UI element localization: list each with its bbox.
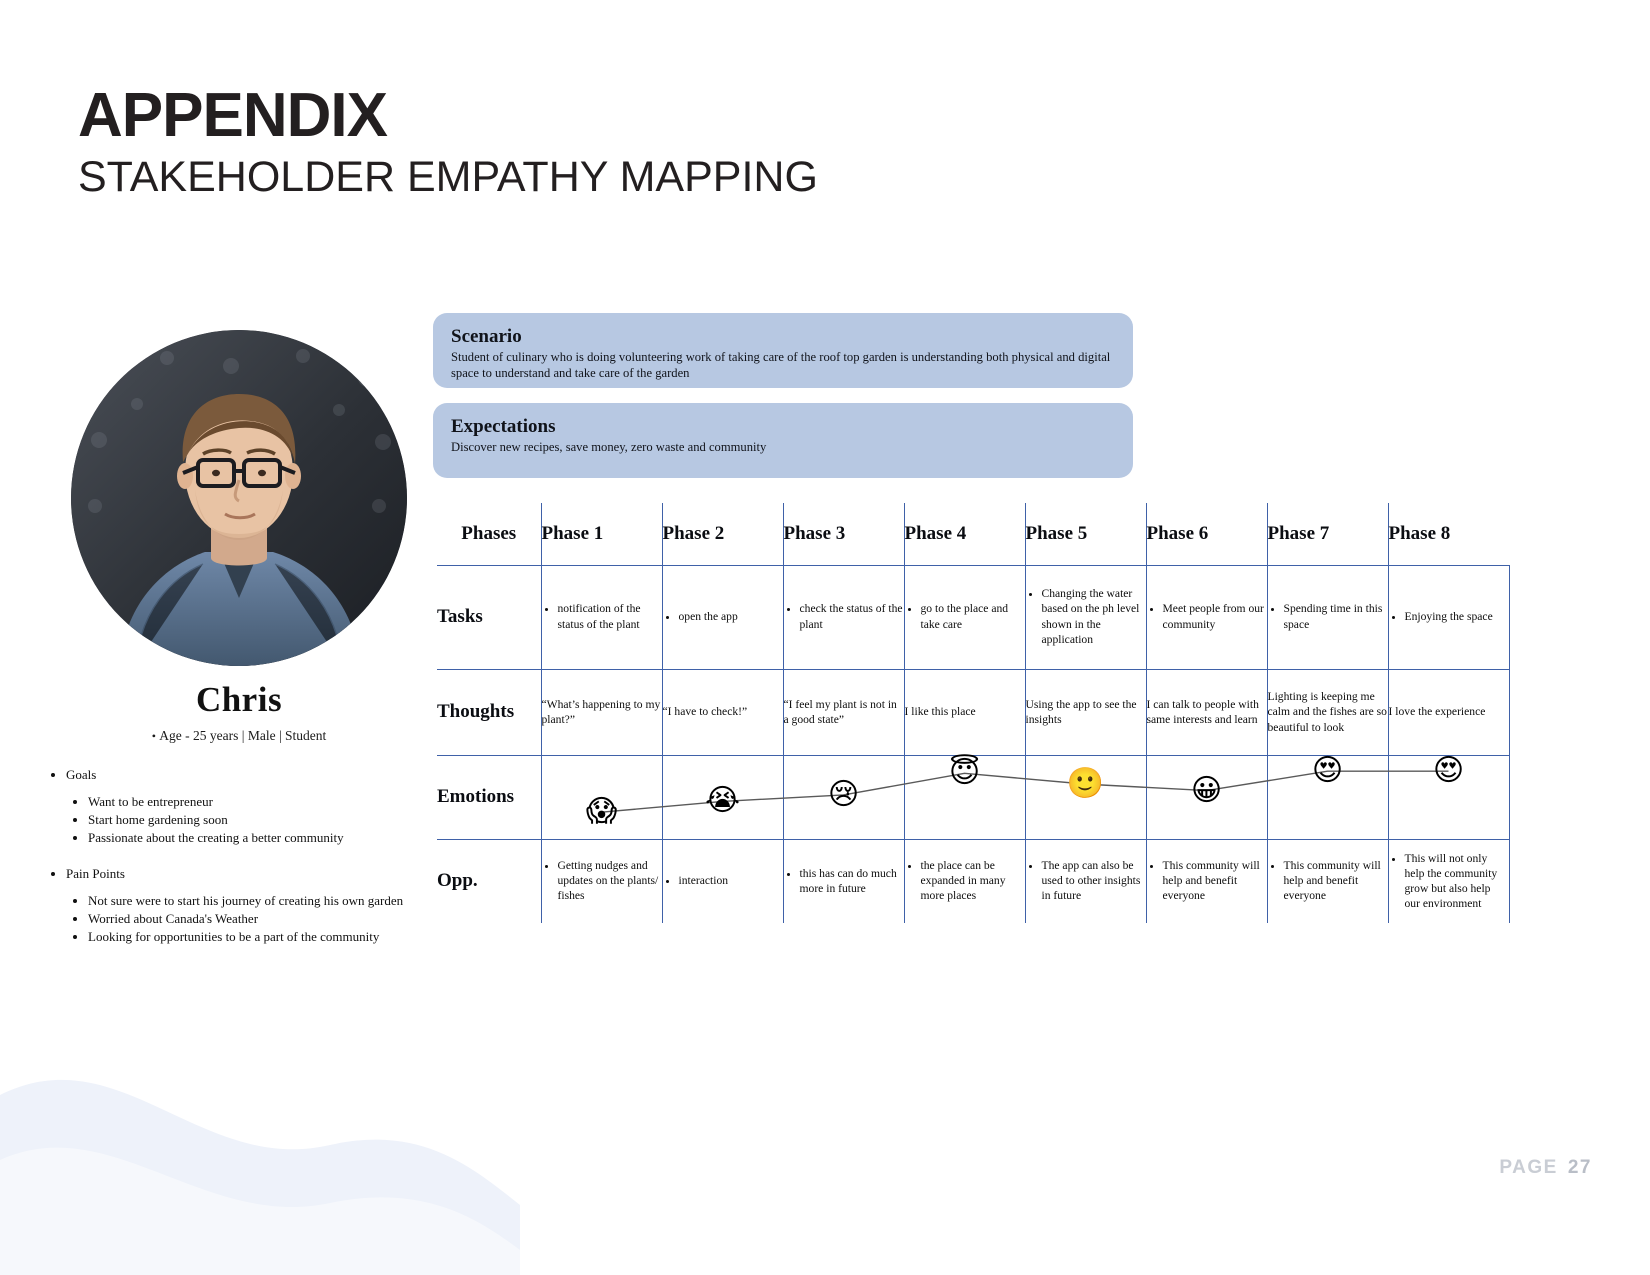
list-item: Enjoying the space — [1405, 609, 1509, 624]
cell-list: go to the place and take care — [921, 601, 1025, 631]
page-header: APPENDIX STAKEHOLDER EMPATHY MAPPING — [78, 85, 818, 202]
column-header-phase-2: Phase 2 — [662, 503, 783, 565]
persona-meta: • Age - 25 years | Male | Student — [44, 728, 434, 744]
persona-meta-text: Age - 25 years | Male | Student — [159, 728, 326, 744]
cell-thoughts-phase-4: I like this place — [904, 669, 1025, 755]
cell-list: interaction — [679, 873, 783, 888]
cell-emotions-phase-3 — [783, 755, 904, 839]
column-header-phase-5: Phase 5 — [1025, 503, 1146, 565]
cell-thoughts-phase-8: I love the experience — [1388, 669, 1509, 755]
cell-tasks-phase-5: Changing the water based on the ph level… — [1025, 565, 1146, 669]
table-row: Opp.Getting nudges and updates on the pl… — [437, 839, 1509, 923]
list-item: interaction — [679, 873, 783, 888]
cell-opp-phase-2: interaction — [662, 839, 783, 923]
cell-list: Enjoying the space — [1405, 609, 1509, 624]
list-item: go to the place and take care — [921, 601, 1025, 631]
expectations-body: Discover new recipes, save money, zero w… — [451, 439, 1115, 455]
empathy-table: Phases Phase 1 Phase 2 Phase 3 Phase 4 P… — [437, 503, 1510, 923]
column-header-phase-3: Phase 3 — [783, 503, 904, 565]
pain-points-group: Pain Points Not sure were to start his j… — [66, 865, 434, 946]
empathy-matrix: Phases Phase 1 Phase 2 Phase 3 Phase 4 P… — [437, 503, 1509, 923]
list-item: Passionate about the creating a better c… — [88, 829, 434, 846]
cell-text: “What’s happening to my plant?” — [542, 697, 662, 727]
cell-emotions-phase-4 — [904, 755, 1025, 839]
cell-text: I love the experience — [1389, 704, 1509, 719]
list-item: Start home gardening soon — [88, 811, 434, 828]
goals-list: Want to be entrepreneur Start home garde… — [88, 793, 434, 846]
avatar — [71, 330, 407, 666]
decorative-wave — [0, 975, 520, 1275]
column-header-phase-8: Phase 8 — [1388, 503, 1509, 565]
cell-text: “I feel my plant is not in a good state” — [784, 697, 904, 727]
cell-list: Meet people from our community — [1163, 601, 1267, 631]
list-item: the place can be expanded in many more p… — [921, 858, 1025, 903]
cell-emotions-phase-2 — [662, 755, 783, 839]
cell-thoughts-phase-7: Lighting is keeping me calm and the fish… — [1267, 669, 1388, 755]
cell-list: This will not only help the community gr… — [1405, 851, 1509, 911]
cell-text: Using the app to see the insights — [1026, 697, 1146, 727]
pain-points-list: Not sure were to start his journey of cr… — [88, 892, 434, 945]
cell-thoughts-phase-1: “What’s happening to my plant?” — [541, 669, 662, 755]
cell-emotions-phase-1 — [541, 755, 662, 839]
cell-tasks-phase-7: Spending time in this space — [1267, 565, 1388, 669]
cell-text: I like this place — [905, 704, 1025, 719]
cell-list: This community will help and benefit eve… — [1284, 858, 1388, 903]
column-header-phase-7: Phase 7 — [1267, 503, 1388, 565]
table-row: Thoughts“What’s happening to my plant?”“… — [437, 669, 1509, 755]
cell-opp-phase-5: The app can also be used to other insigh… — [1025, 839, 1146, 923]
bullet-glyph: • — [152, 729, 156, 743]
page-title: APPENDIX — [78, 85, 818, 147]
table-row: Tasksnotification of the status of the p… — [437, 565, 1509, 669]
row-label-tasks: Tasks — [437, 565, 541, 669]
cell-tasks-phase-3: check the status of the plant — [783, 565, 904, 669]
column-header-phase-1: Phase 1 — [541, 503, 662, 565]
cell-list: Spending time in this space — [1284, 601, 1388, 631]
list-item: this has can do much more in future — [800, 866, 904, 896]
cell-list: notification of the status of the plant — [558, 601, 662, 631]
list-item: open the app — [679, 609, 783, 624]
goals-group: Goals Want to be entrepreneur Start home… — [66, 766, 434, 847]
cell-emotions-phase-7 — [1267, 755, 1388, 839]
row-label-opp: Opp. — [437, 839, 541, 923]
table-header-row: Phases Phase 1 Phase 2 Phase 3 Phase 4 P… — [437, 503, 1509, 565]
row-label-thoughts: Thoughts — [437, 669, 541, 755]
page-footer: PAGE27 — [1499, 1157, 1592, 1179]
cell-opp-phase-7: This community will help and benefit eve… — [1267, 839, 1388, 923]
expectations-heading: Expectations — [451, 417, 1115, 438]
cell-text: Lighting is keeping me calm and the fish… — [1268, 689, 1388, 734]
list-item: This community will help and benefit eve… — [1163, 858, 1267, 903]
cell-tasks-phase-2: open the app — [662, 565, 783, 669]
cell-list: check the status of the plant — [800, 601, 904, 631]
cell-emotions-phase-6 — [1146, 755, 1267, 839]
list-item: Spending time in this space — [1284, 601, 1388, 631]
list-item: Meet people from our community — [1163, 601, 1267, 631]
scenario-heading: Scenario — [451, 327, 1115, 348]
list-item: Changing the water based on the ph level… — [1042, 586, 1146, 646]
list-item: check the status of the plant — [800, 601, 904, 631]
cell-opp-phase-6: This community will help and benefit eve… — [1146, 839, 1267, 923]
persona-details: Goals Want to be entrepreneur Start home… — [44, 766, 434, 945]
cell-list: This community will help and benefit eve… — [1163, 858, 1267, 903]
pain-points-label: Pain Points — [66, 866, 125, 881]
list-item: Getting nudges and updates on the plants… — [558, 858, 662, 903]
column-header-phase-4: Phase 4 — [904, 503, 1025, 565]
page-number: 27 — [1568, 1157, 1592, 1178]
list-item: Not sure were to start his journey of cr… — [88, 892, 434, 909]
cell-thoughts-phase-2: “I have to check!” — [662, 669, 783, 755]
cell-thoughts-phase-3: “I feel my plant is not in a good state” — [783, 669, 904, 755]
cell-tasks-phase-8: Enjoying the space — [1388, 565, 1509, 669]
cell-list: The app can also be used to other insigh… — [1042, 858, 1146, 903]
cell-thoughts-phase-6: I can talk to people with same interests… — [1146, 669, 1267, 755]
slide-page: APPENDIX STAKEHOLDER EMPATHY MAPPING — [0, 0, 1650, 1275]
cell-opp-phase-1: Getting nudges and updates on the plants… — [541, 839, 662, 923]
cell-opp-phase-8: This will not only help the community gr… — [1388, 839, 1509, 923]
cell-emotions-phase-8 — [1388, 755, 1509, 839]
list-item: Looking for opportunities to be a part o… — [88, 928, 434, 945]
scenario-box: Scenario Student of culinary who is doin… — [433, 313, 1133, 388]
page-subtitle: STAKEHOLDER EMPATHY MAPPING — [78, 153, 818, 202]
cell-thoughts-phase-5: Using the app to see the insights — [1025, 669, 1146, 755]
cell-tasks-phase-4: go to the place and take care — [904, 565, 1025, 669]
list-item: This community will help and benefit eve… — [1284, 858, 1388, 903]
table-body: Tasksnotification of the status of the p… — [437, 565, 1509, 923]
cell-list: Getting nudges and updates on the plants… — [558, 858, 662, 903]
list-item: The app can also be used to other insigh… — [1042, 858, 1146, 903]
scenario-body: Student of culinary who is doing volunte… — [451, 349, 1115, 381]
page-label: PAGE — [1499, 1157, 1557, 1178]
column-header-phases: Phases — [437, 503, 541, 565]
list-item: This will not only help the community gr… — [1405, 851, 1509, 911]
cell-list: this has can do much more in future — [800, 866, 904, 896]
table-row: Emotions — [437, 755, 1509, 839]
cell-tasks-phase-6: Meet people from our community — [1146, 565, 1267, 669]
row-label-emotions: Emotions — [437, 755, 541, 839]
persona-name: Chris — [44, 680, 434, 720]
cell-list: open the app — [679, 609, 783, 624]
cell-list: the place can be expanded in many more p… — [921, 858, 1025, 903]
list-item: Want to be entrepreneur — [88, 793, 434, 810]
cell-text: I can talk to people with same interests… — [1147, 697, 1267, 727]
persona-panel: Chris • Age - 25 years | Male | Student … — [44, 330, 434, 949]
cell-opp-phase-3: this has can do much more in future — [783, 839, 904, 923]
column-header-phase-6: Phase 6 — [1146, 503, 1267, 565]
goals-label: Goals — [66, 767, 96, 782]
cell-emotions-phase-5 — [1025, 755, 1146, 839]
cell-opp-phase-4: the place can be expanded in many more p… — [904, 839, 1025, 923]
list-item: notification of the status of the plant — [558, 601, 662, 631]
cell-text: “I have to check!” — [663, 704, 783, 719]
expectations-box: Expectations Discover new recipes, save … — [433, 403, 1133, 478]
list-item: Worried about Canada's Weather — [88, 910, 434, 927]
cell-list: Changing the water based on the ph level… — [1042, 586, 1146, 646]
cell-tasks-phase-1: notification of the status of the plant — [541, 565, 662, 669]
